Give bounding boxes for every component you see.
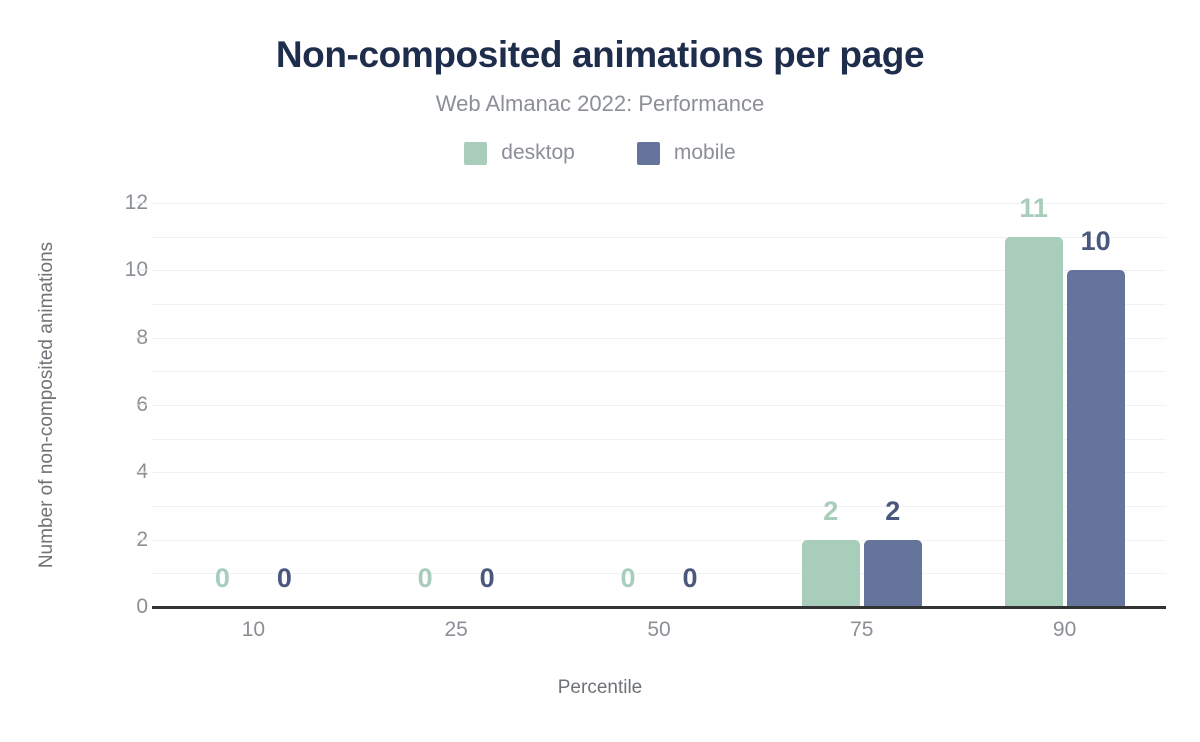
x-axis-line <box>152 606 1166 609</box>
legend-swatch-desktop <box>464 142 487 165</box>
bar-desktop-90[interactable] <box>1005 237 1063 607</box>
legend-label-mobile: mobile <box>674 141 736 165</box>
x-axis-tick-label: 25 <box>356 618 556 642</box>
y-axis-title-label: Number of non-composited animations <box>36 242 58 568</box>
y-axis-tick-mark <box>136 539 147 540</box>
bar-value-label-mobile-10: 0 <box>224 563 344 594</box>
x-axis-tick-label: 50 <box>559 618 759 642</box>
legend-swatch-mobile <box>637 142 660 165</box>
y-axis-tick-mark <box>136 405 147 406</box>
chart-subtitle: Web Almanac 2022: Performance <box>0 91 1200 117</box>
bar-mobile-90[interactable] <box>1067 270 1125 607</box>
y-axis-tick-mark <box>136 472 147 473</box>
bar-desktop-75[interactable] <box>802 540 860 607</box>
plot-area: 024681012000000221110 <box>152 203 1166 607</box>
bar-chart: Non-composited animations per page Web A… <box>0 0 1200 742</box>
bar-value-label-desktop-90: 11 <box>974 193 1094 224</box>
y-axis-tick-mark <box>136 270 147 271</box>
x-axis-tick-label: 75 <box>762 618 962 642</box>
bar-value-label-mobile-90: 10 <box>1036 226 1156 257</box>
y-axis-tick-label: 0 <box>88 595 148 619</box>
bar-value-label-mobile-75: 2 <box>833 496 953 527</box>
legend-item-mobile[interactable]: mobile <box>637 141 736 165</box>
legend-item-desktop[interactable]: desktop <box>464 141 575 165</box>
y-axis-title: Number of non-composited animations <box>33 203 61 607</box>
y-axis-tick-mark <box>136 337 147 338</box>
bar-value-label-mobile-50: 0 <box>630 563 750 594</box>
bar-mobile-75[interactable] <box>864 540 922 607</box>
x-axis-tick-label: 10 <box>153 618 353 642</box>
y-axis-tick-mark <box>136 203 147 204</box>
legend-label-desktop: desktop <box>501 141 575 165</box>
x-axis-tick-label: 90 <box>965 618 1165 642</box>
x-axis-title: Percentile <box>0 677 1200 699</box>
page-title: Non-composited animations per page <box>0 34 1200 76</box>
chart-legend: desktopmobile <box>0 141 1200 165</box>
bar-value-label-mobile-25: 0 <box>427 563 547 594</box>
